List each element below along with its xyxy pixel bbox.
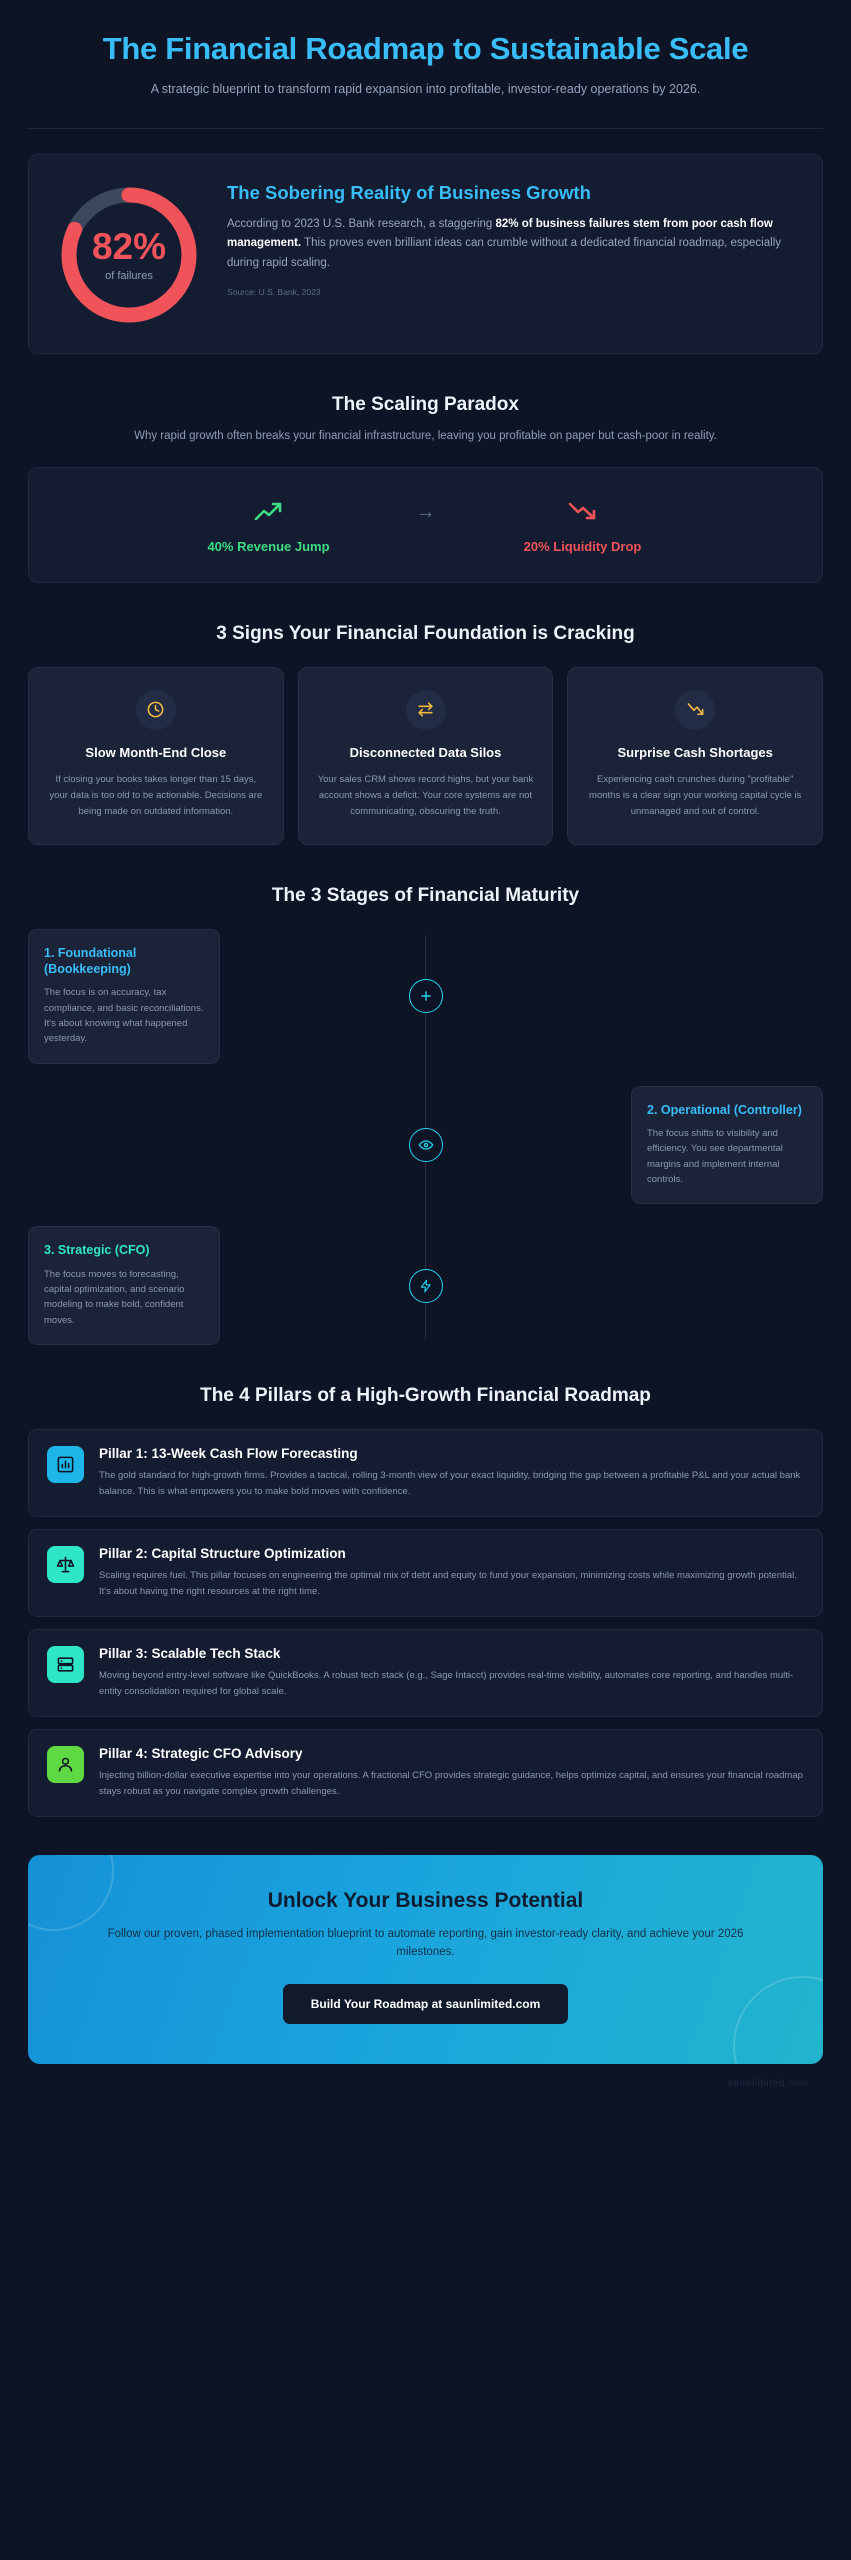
signs-card-grid: Slow Month-End Close If closing your boo… <box>28 667 823 845</box>
pillar-text: Scaling requires fuel. This pillar focus… <box>99 1568 804 1600</box>
paradox-revenue-label: 40% Revenue Jump <box>160 539 378 554</box>
pillars-header: The 4 Pillars of a High-Growth Financial… <box>0 1385 851 1407</box>
stage-card-title: 1. Foundational (Bookkeeping) <box>44 945 204 978</box>
stage-card-title: 3. Strategic (CFO) <box>44 1242 204 1258</box>
infographic-page: The Financial Roadmap to Sustainable Sca… <box>0 0 851 2560</box>
sobering-reality-card: 82% of failures The Sobering Reality of … <box>28 154 823 354</box>
sobering-reality-paragraph: According to 2023 U.S. Bank research, a … <box>227 215 798 274</box>
stat-text-mid: This proves even brilliant ideas can cru… <box>227 237 781 269</box>
sign-card-body: If closing your books takes longer than … <box>45 772 267 820</box>
stage-card-body: The focus moves to forecasting, capital … <box>44 1267 204 1329</box>
paradox-revenue-item: 40% Revenue Jump <box>160 494 378 554</box>
decorative-ring <box>733 1976 823 2064</box>
bar-chart-icon <box>47 1446 84 1483</box>
paradox-card: 40% Revenue Jump → 20% Liquidity Drop <box>28 467 823 583</box>
pillars-title: The 4 Pillars of a High-Growth Financial… <box>70 1385 781 1407</box>
pillars-list: Pillar 1: 13-Week Cash Flow Forecasting … <box>28 1429 823 1817</box>
build-roadmap-button[interactable]: Build Your Roadmap at saunlimited.com <box>283 1984 569 2024</box>
pillar-title: Pillar 4: Strategic CFO Advisory <box>99 1746 804 1761</box>
pillar-title: Pillar 2: Capital Structure Optimization <box>99 1546 804 1561</box>
hero-section: The Financial Roadmap to Sustainable Sca… <box>0 0 851 100</box>
donut-sublabel: of failures <box>105 270 153 282</box>
sign-card: Surprise Cash Shortages Experiencing cas… <box>567 667 823 845</box>
plus-icon <box>409 979 443 1013</box>
sign-card: Slow Month-End Close If closing your boo… <box>28 667 284 845</box>
stages-header: The 3 Stages of Financial Maturity <box>0 885 851 907</box>
cta-title: Unlock Your Business Potential <box>68 1889 783 1913</box>
paradox-liquidity-label: 20% Liquidity Drop <box>474 539 692 554</box>
paradox-liquidity-item: 20% Liquidity Drop <box>474 494 692 554</box>
trend-down-icon <box>675 690 715 730</box>
stages-title: The 3 Stages of Financial Maturity <box>70 885 781 907</box>
pillar-body: Pillar 1: 13-Week Cash Flow Forecasting … <box>99 1446 804 1500</box>
sign-card-body: Your sales CRM shows record highs, but y… <box>315 772 537 820</box>
sign-card-title: Disconnected Data Silos <box>315 745 537 762</box>
pillar-card: Pillar 2: Capital Structure Optimization… <box>28 1529 823 1617</box>
scales-icon <box>47 1546 84 1583</box>
sobering-reality-heading: The Sobering Reality of Business Growth <box>227 181 798 204</box>
failure-rate-donut-chart: 82% of failures <box>53 179 205 331</box>
pillar-text: Moving beyond entry-level software like … <box>99 1668 804 1700</box>
sign-card-title: Surprise Cash Shortages <box>584 745 806 762</box>
signs-header: 3 Signs Your Financial Foundation is Cra… <box>0 623 851 645</box>
stat-source: Source: U.S. Bank, 2023 <box>227 287 798 297</box>
donut-percent: 82% <box>92 228 166 265</box>
stages-timeline: 1. Foundational (Bookkeeping) The focus … <box>28 929 823 1346</box>
eye-icon <box>409 1128 443 1162</box>
cta-banner: Unlock Your Business Potential Follow ou… <box>28 1855 823 2064</box>
pillar-card: Pillar 4: Strategic CFO Advisory Injecti… <box>28 1729 823 1817</box>
footer-brand: saunlimited.com <box>0 2064 851 2115</box>
paradox-subtitle: Why rapid growth often breaks your finan… <box>70 427 781 445</box>
pillar-body: Pillar 2: Capital Structure Optimization… <box>99 1546 804 1600</box>
clock-icon <box>136 690 176 730</box>
pillar-title: Pillar 1: 13-Week Cash Flow Forecasting <box>99 1446 804 1461</box>
exchange-arrows-icon <box>406 690 446 730</box>
trend-down-icon <box>474 494 692 528</box>
page-title: The Financial Roadmap to Sustainable Sca… <box>60 30 791 67</box>
donut-center-label: 82% of failures <box>53 179 205 331</box>
stage-row: 2. Operational (Controller) The focus sh… <box>28 1086 823 1205</box>
sobering-reality-body: The Sobering Reality of Business Growth … <box>227 177 798 297</box>
paradox-arrow-icon: → <box>416 501 436 546</box>
sign-card-body: Experiencing cash crunches during "profi… <box>584 772 806 820</box>
server-stack-icon <box>47 1646 84 1683</box>
sign-card-title: Slow Month-End Close <box>45 745 267 762</box>
cta-body: Follow our proven, phased implementation… <box>68 1925 783 1962</box>
page-subtitle: A strategic blueprint to transform rapid… <box>60 80 791 99</box>
pillar-body: Pillar 4: Strategic CFO Advisory Injecti… <box>99 1746 804 1800</box>
stage-card: 1. Foundational (Bookkeeping) The focus … <box>28 929 220 1064</box>
sign-card: Disconnected Data Silos Your sales CRM s… <box>298 667 554 845</box>
pillar-title: Pillar 3: Scalable Tech Stack <box>99 1646 804 1661</box>
hero-divider <box>28 128 823 129</box>
stat-text-pre: According to 2023 U.S. Bank research, a … <box>227 218 496 230</box>
trend-up-icon <box>160 494 378 528</box>
stage-card-title: 2. Operational (Controller) <box>647 1102 807 1118</box>
pillar-body: Pillar 3: Scalable Tech Stack Moving bey… <box>99 1646 804 1700</box>
stage-row: 3. Strategic (CFO) The focus moves to fo… <box>28 1226 823 1345</box>
stage-card-body: The focus is on accuracy, tax compliance… <box>44 985 204 1047</box>
user-advisor-icon <box>47 1746 84 1783</box>
pillar-card: Pillar 3: Scalable Tech Stack Moving bey… <box>28 1629 823 1717</box>
pillar-text: Injecting billion-dollar executive exper… <box>99 1768 804 1800</box>
stage-card: 2. Operational (Controller) The focus sh… <box>631 1086 823 1205</box>
stage-card: 3. Strategic (CFO) The focus moves to fo… <box>28 1226 220 1345</box>
signs-title: 3 Signs Your Financial Foundation is Cra… <box>70 623 781 645</box>
stage-card-body: The focus shifts to visibility and effic… <box>647 1126 807 1188</box>
paradox-header: The Scaling Paradox Why rapid growth oft… <box>0 394 851 445</box>
paradox-title: The Scaling Paradox <box>70 394 781 416</box>
bolt-icon <box>409 1269 443 1303</box>
stage-row: 1. Foundational (Bookkeeping) The focus … <box>28 929 823 1064</box>
pillar-text: The gold standard for high-growth firms.… <box>99 1468 804 1500</box>
pillar-card: Pillar 1: 13-Week Cash Flow Forecasting … <box>28 1429 823 1517</box>
